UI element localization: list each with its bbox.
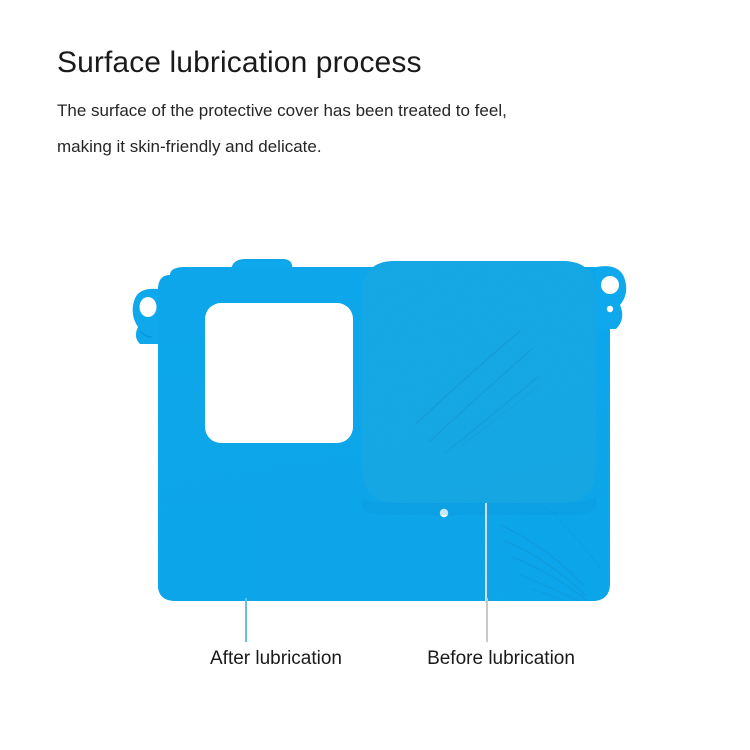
lens-cover-flap [355,255,605,515]
caption-before-lubrication: Before lubrication [427,646,575,672]
screen-cutout [205,303,353,443]
description-line-1: The surface of the protective cover has … [57,93,697,129]
caption-after-lubrication: After lubrication [210,646,342,672]
right-mount-tab [596,266,626,329]
silicone-case-illustration [0,245,750,625]
text-block: Surface lubrication process The surface … [57,44,697,165]
leader-line-after [245,598,247,642]
page-title: Surface lubrication process [57,44,697,82]
callout-group: After lubrication Before lubrication [0,598,750,688]
product-feature-slide: Surface lubrication process The surface … [0,0,750,750]
product-image [0,245,750,625]
left-mount-tab [133,289,158,344]
leader-line-before [486,598,488,642]
description-line-2: making it skin-friendly and delicate. [57,129,697,165]
description-paragraph: The surface of the protective cover has … [57,93,697,165]
